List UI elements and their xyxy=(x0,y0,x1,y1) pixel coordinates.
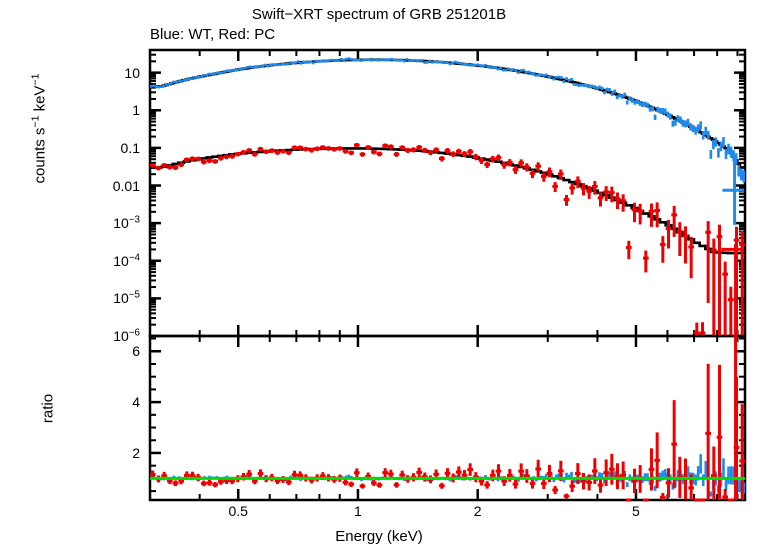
plot-canvas xyxy=(0,0,758,556)
panel-frame-spectrum xyxy=(150,50,745,336)
series-PC xyxy=(150,143,745,335)
model-curve-PC xyxy=(150,148,745,253)
series-WT xyxy=(150,58,745,182)
plot-figure: Swift−XRT spectrum of GRB 251201B Blue: … xyxy=(0,0,758,556)
